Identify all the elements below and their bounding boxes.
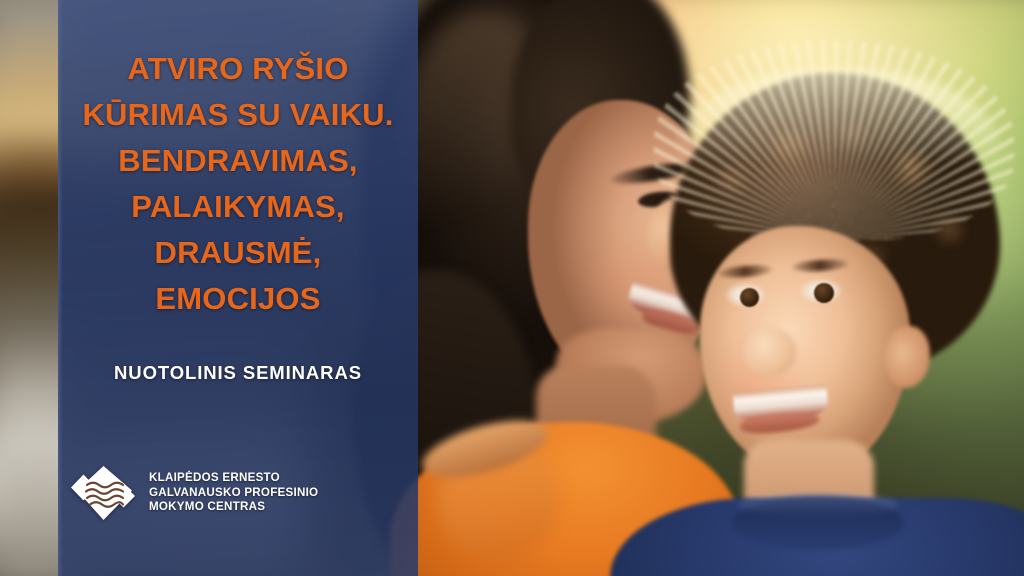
organization-logo: KLAIPĖDOS ERNESTO GALVANAUSKO PROFESINIO… [70, 462, 318, 524]
three-diamonds-waves-icon [70, 462, 136, 524]
subtitle: NUOTOLINIS SEMINARAS [70, 362, 406, 384]
organization-name: KLAIPĖDOS ERNESTO GALVANAUSKO PROFESINIO… [149, 471, 318, 515]
logo-line-3: MOKYMO CENTRAS [149, 500, 318, 515]
headline-line-4: PALAIKYMAS, [70, 184, 406, 230]
child-figure [648, 40, 1024, 576]
logo-line-1: KLAIPĖDOS ERNESTO [149, 471, 318, 486]
headline-line-2: KŪRIMAS SU VAIKU. [70, 92, 406, 138]
logo-line-2: GALVANAUSKO PROFESINIO [149, 486, 318, 501]
seminar-promo-banner: ATVIRO RYŠIO KŪRIMAS SU VAIKU. BENDRAVIM… [0, 0, 1024, 576]
headline-line-3: BENDRAVIMAS, [70, 138, 406, 184]
headline-line-6: EMOCIJOS [70, 276, 406, 322]
headline: ATVIRO RYŠIO KŪRIMAS SU VAIKU. BENDRAVIM… [70, 46, 406, 322]
headline-line-5: DRAUSMĖ, [70, 230, 406, 276]
headline-line-1: ATVIRO RYŠIO [70, 46, 406, 92]
